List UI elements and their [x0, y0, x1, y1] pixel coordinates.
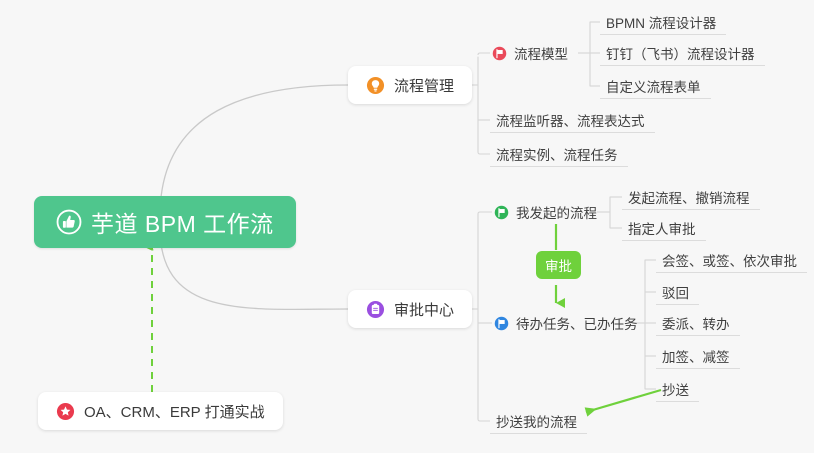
leaf-process-listener-expression[interactable]: 流程监听器、流程表达式 [490, 107, 655, 133]
node-process-model-label: 流程模型 [514, 43, 568, 63]
leaf-cc[interactable]: 抄送 [656, 376, 699, 402]
node-my-initiated-process[interactable]: 我发起的流程 [492, 199, 601, 225]
node-todo-done-task[interactable]: 待办任务、已办任务 [492, 310, 642, 336]
integration-note-label: OA、CRM、ERP 打通实战 [84, 401, 265, 422]
leaf-cc-to-me-process-label: 抄送我的流程 [496, 411, 577, 431]
leaf-countersign-orsign-sequential[interactable]: 会签、或签、依次审批 [656, 247, 807, 273]
leaf-start-cancel-process-label: 发起流程、撤销流程 [628, 187, 750, 207]
leaf-process-listener-expression-label: 流程监听器、流程表达式 [496, 110, 645, 130]
leaf-start-cancel-process[interactable]: 发起流程、撤销流程 [622, 184, 760, 210]
leaf-dingtalk-feishu-designer[interactable]: 钉钉（飞书）流程设计器 [600, 40, 765, 66]
leaf-dingtalk-feishu-designer-label: 钉钉（飞书）流程设计器 [606, 43, 755, 63]
star-icon [56, 402, 75, 421]
leaf-delegate-transfer[interactable]: 委派、转办 [656, 310, 740, 336]
leaf-custom-process-form-label: 自定义流程表单 [606, 76, 701, 96]
branch-process-management[interactable]: 流程管理 [348, 66, 472, 104]
branch-approval-center[interactable]: 审批中心 [348, 290, 472, 328]
leaf-custom-process-form[interactable]: 自定义流程表单 [600, 73, 711, 99]
leaf-bpmn-designer[interactable]: BPMN 流程设计器 [600, 9, 726, 35]
leaf-process-instance-task-label: 流程实例、流程任务 [496, 144, 618, 164]
leaf-assignee-approval[interactable]: 指定人审批 [622, 215, 706, 241]
root-node[interactable]: 芋道 BPM 工作流 [34, 196, 296, 248]
flag-icon [494, 316, 509, 331]
leaf-assignee-approval-label: 指定人审批 [628, 218, 696, 238]
leaf-reject[interactable]: 驳回 [656, 279, 699, 305]
leaf-add-remove-sign[interactable]: 加签、减签 [656, 343, 740, 369]
flag-icon [492, 46, 507, 61]
leaf-reject-label: 驳回 [662, 282, 689, 302]
integration-note-node[interactable]: OA、CRM、ERP 打通实战 [38, 392, 283, 430]
leaf-bpmn-designer-label: BPMN 流程设计器 [606, 12, 716, 32]
node-my-initiated-process-label: 我发起的流程 [516, 202, 597, 222]
node-process-model[interactable]: 流程模型 [490, 40, 572, 66]
flag-icon [494, 205, 509, 220]
branch-process-management-label: 流程管理 [394, 75, 454, 96]
node-todo-done-task-label: 待办任务、已办任务 [516, 313, 638, 333]
leaf-cc-to-me-process[interactable]: 抄送我的流程 [490, 408, 587, 434]
clipboard-icon [366, 300, 385, 319]
cc-to-ccprocess-arrow [586, 390, 661, 412]
mindmap-canvas: 芋道 BPM 工作流 OA、CRM、ERP 打通实战 流程管理 [0, 0, 814, 453]
leaf-process-instance-task[interactable]: 流程实例、流程任务 [490, 141, 628, 167]
thumbs-up-icon [56, 209, 82, 235]
leaf-countersign-orsign-sequential-label: 会签、或签、依次审批 [662, 250, 797, 270]
approval-flow-badge: 审批 [536, 251, 581, 279]
root-label: 芋道 BPM 工作流 [91, 205, 274, 239]
leaf-cc-label: 抄送 [662, 379, 689, 399]
leaf-add-remove-sign-label: 加签、减签 [662, 346, 730, 366]
leaf-delegate-transfer-label: 委派、转办 [662, 313, 730, 333]
lightbulb-icon [366, 76, 385, 95]
approval-flow-badge-label: 审批 [545, 255, 572, 275]
branch-approval-center-label: 审批中心 [394, 299, 454, 320]
